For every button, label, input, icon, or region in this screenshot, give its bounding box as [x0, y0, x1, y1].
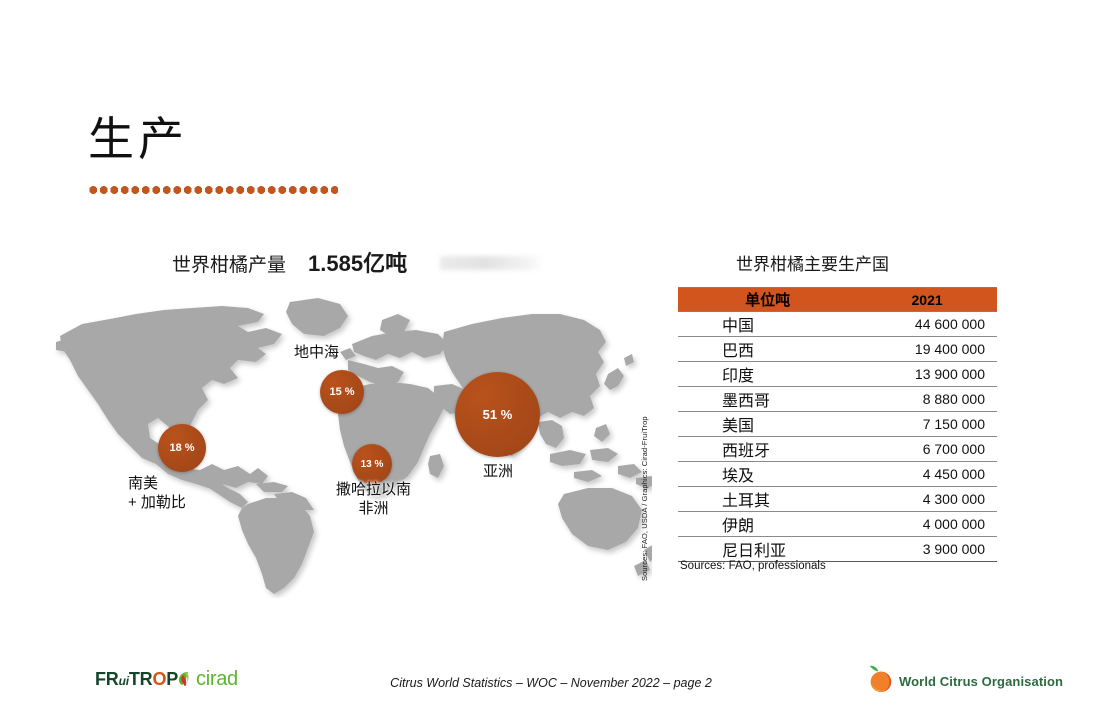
table-row: 尼日利亚 3 900 000 — [678, 537, 997, 562]
table-cell-value: 4 300 000 — [857, 487, 997, 512]
table-header-year: 2021 — [857, 288, 997, 312]
title-dotted-divider — [88, 186, 338, 194]
map-label-asia: 亚洲 — [483, 463, 513, 482]
map-label-south-america: 南美 + 加勒比 — [128, 475, 186, 513]
map-title-value: 1.585亿吨 — [308, 251, 407, 276]
map-label-mediterranean: 地中海 — [294, 344, 339, 363]
map-label-south-america-line2: + 加勒比 — [128, 494, 186, 513]
bubble-asia-value: 51 % — [483, 407, 513, 422]
table-header-unit: 单位吨 — [678, 288, 857, 312]
slide-canvas: 生产 世界柑橘产量1.585亿吨 — [0, 0, 1102, 725]
table-row: 埃及 4 450 000 — [678, 462, 997, 487]
table-cell-country: 西班牙 — [678, 437, 857, 462]
table-sources-note: Sources: FAO, professionals — [680, 560, 826, 572]
table-cell-country: 印度 — [678, 362, 857, 387]
table-cell-value: 3 900 000 — [857, 537, 997, 562]
table-cell-country: 埃及 — [678, 462, 857, 487]
map-title-erased-smudge — [440, 256, 545, 270]
map-title: 世界柑橘产量1.585亿吨 — [172, 246, 407, 278]
table-row: 印度 13 900 000 — [678, 362, 997, 387]
bubble-sub-saharan-africa: 13 % — [352, 444, 392, 484]
table-cell-value: 7 150 000 — [857, 412, 997, 437]
map-label-south-america-line1: 南美 — [128, 475, 186, 494]
bubble-south-america-value: 18 % — [169, 442, 194, 454]
wco-logo-text: World Citrus Organisation — [899, 674, 1063, 689]
bubble-mediterranean-value: 15 % — [329, 386, 354, 398]
table-row: 巴西 19 400 000 — [678, 337, 997, 362]
table-cell-value: 13 900 000 — [857, 362, 997, 387]
table-row: 中国 44 600 000 — [678, 312, 997, 337]
bubble-asia: 51 % — [455, 372, 540, 457]
map-sources-note: Sources: FAO, USDA / Graphics: Cirad-Fru… — [640, 441, 649, 581]
table-cell-country: 伊朗 — [678, 512, 857, 537]
table-cell-country: 尼日利亚 — [678, 537, 857, 562]
table-cell-country: 中国 — [678, 312, 857, 337]
table-cell-country: 美国 — [678, 412, 857, 437]
bubble-sub-saharan-africa-value: 13 % — [361, 459, 384, 470]
table-cell-country: 土耳其 — [678, 487, 857, 512]
table-cell-country: 巴西 — [678, 337, 857, 362]
table-row: 美国 7 150 000 — [678, 412, 997, 437]
landmasses — [56, 298, 652, 594]
top-producers-table: 单位吨 2021 中国 44 600 000 巴西 19 400 000 印度 … — [678, 287, 997, 562]
bubble-mediterranean: 15 % — [320, 370, 364, 414]
map-label-sub-saharan-africa-line1: 撒哈拉以南 — [336, 481, 411, 500]
table-title: 世界柑橘主要生产国 — [736, 250, 889, 275]
table-header-row: 单位吨 2021 — [678, 288, 997, 312]
wco-logo: World Citrus Organisation — [866, 664, 1063, 699]
map-label-sub-saharan-africa: 撒哈拉以南 非洲 — [336, 481, 411, 519]
world-map-graphic — [52, 288, 652, 598]
table-row: 土耳其 4 300 000 — [678, 487, 997, 512]
table-cell-value: 4 000 000 — [857, 512, 997, 537]
table-cell-value: 6 700 000 — [857, 437, 997, 462]
table-row: 伊朗 4 000 000 — [678, 512, 997, 537]
table-cell-country: 墨西哥 — [678, 387, 857, 412]
citrus-fruit-icon — [866, 664, 894, 699]
table-cell-value: 44 600 000 — [857, 312, 997, 337]
table-cell-value: 8 880 000 — [857, 387, 997, 412]
table-row: 西班牙 6 700 000 — [678, 437, 997, 462]
map-label-sub-saharan-africa-line2: 非洲 — [336, 500, 411, 519]
map-title-prefix: 世界柑橘产量 — [172, 255, 286, 276]
table-cell-value: 4 450 000 — [857, 462, 997, 487]
table-cell-value: 19 400 000 — [857, 337, 997, 362]
bubble-south-america: 18 % — [158, 424, 206, 472]
page-title: 生产 — [88, 116, 188, 162]
table-row: 墨西哥 8 880 000 — [678, 387, 997, 412]
